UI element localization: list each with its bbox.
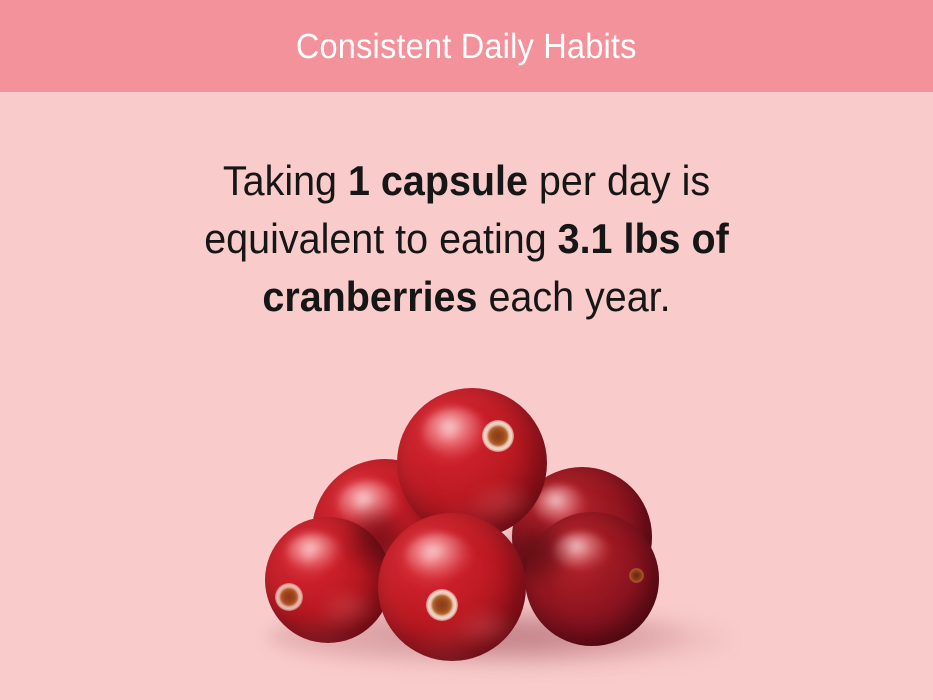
statement-line-1: Taking 1 capsule per day is — [28, 152, 905, 210]
cranberry-top — [397, 388, 547, 538]
cranberry-calyx-scar — [482, 420, 514, 452]
cranberry-highlight — [423, 408, 487, 456]
berry-ground-shadow — [268, 604, 688, 670]
cranberry-pile-photo — [0, 0, 933, 700]
header-title: Consistent Daily Habits — [296, 29, 637, 64]
statement-block: Taking 1 capsule per day is equivalent t… — [0, 152, 933, 326]
cranberry-highlight — [406, 533, 472, 579]
header-bar: Consistent Daily Habits — [0, 0, 933, 92]
cranberry-sheen — [471, 484, 531, 520]
cranberry-sheen — [321, 591, 373, 625]
cranberry-contact-shadow — [345, 507, 411, 573]
cranberry-back-right — [512, 467, 652, 607]
cranberry-contact-shadow — [507, 518, 567, 588]
cranberry-highlight — [287, 533, 343, 571]
cranberry-front-center — [378, 513, 526, 661]
statement-capsule-emphasis: 1 capsule — [348, 157, 528, 204]
statement-line-2: equivalent to eating 3.1 lbs of — [28, 210, 905, 268]
statement-weight-emphasis: 3.1 lbs of — [558, 215, 729, 262]
cranberry-highlight — [553, 532, 609, 570]
statement-line1-text-before: Taking — [223, 157, 348, 204]
statement-cranberries-emphasis: cranberries — [262, 273, 477, 320]
cranberry-highlight — [534, 485, 586, 525]
cranberry-mid-left — [312, 459, 458, 605]
cranberry-sheen — [456, 609, 514, 645]
cranberry-calyx-scar — [426, 589, 458, 621]
cranberry-contact-shadow — [404, 465, 470, 531]
statement-line2-text-before: equivalent to eating — [204, 215, 557, 262]
berry-ground-shadow-secondary — [430, 614, 730, 666]
cranberry-bottom-right — [525, 512, 659, 646]
cranberry-highlight — [338, 481, 400, 525]
cranberry-calyx-scar — [275, 583, 303, 611]
cranberry-sheen — [374, 545, 440, 587]
slide-root: Consistent Daily Habits Taking 1 capsule… — [0, 0, 933, 700]
cranberry-bottom-left — [265, 517, 391, 643]
cranberry-calyx-scar — [629, 568, 644, 583]
statement-line3-text-after: each year. — [477, 273, 670, 320]
statement-line1-text-after: per day is — [528, 157, 710, 204]
statement-line-3: cranberries each year. — [28, 268, 905, 326]
